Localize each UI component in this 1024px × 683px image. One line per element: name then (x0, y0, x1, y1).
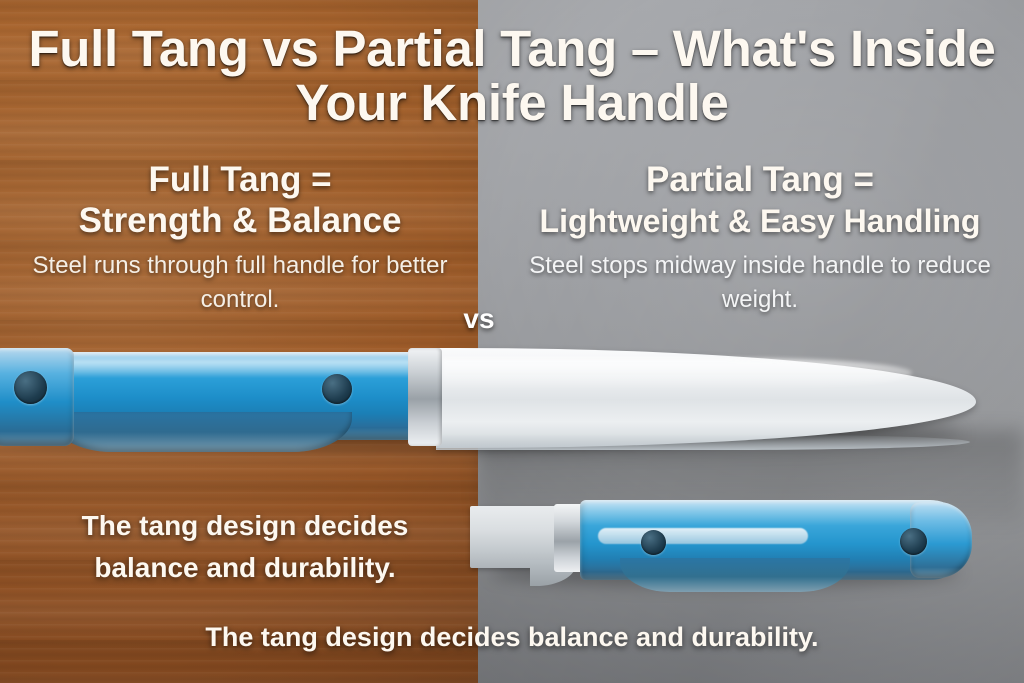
full-tang-blade (436, 348, 976, 448)
column-partial-tang: Partial Tang = Lightweight & Easy Handli… (500, 160, 1020, 317)
partial-tang-heading-line-1: Partial Tang = (500, 160, 1020, 200)
full-tang-knife-illustration (0, 340, 992, 475)
partial-tang-rivet-rear (900, 528, 927, 555)
page-title: Full Tang vs Partial Tang – What's Insid… (0, 22, 1024, 130)
full-tang-rivet-rear (14, 371, 47, 404)
partial-tang-internal-steel (598, 528, 808, 544)
full-tang-handle-belly (52, 412, 352, 452)
partial-tang-knife-illustration (470, 498, 980, 608)
page-title-line-1: Full Tang vs Partial Tang – What's Insid… (10, 22, 1014, 76)
full-tang-heading-line-2: Strength & Balance (5, 200, 475, 242)
partial-tang-rivet-front (641, 530, 666, 555)
partial-tang-heading-line-2: Lightweight & Easy Handling (500, 200, 1020, 242)
versus-divider-label: vs (448, 303, 510, 335)
partial-tang-blade (470, 506, 566, 568)
column-full-tang: Full Tang = Strength & Balance Steel run… (5, 160, 475, 317)
full-tang-note: The tang design decides balance and dura… (35, 505, 455, 589)
partial-tang-description: Steel stops midway inside handle to redu… (500, 249, 1020, 317)
full-tang-blade-edge (436, 434, 970, 450)
infographic-canvas: Full Tang vs Partial Tang – What's Insid… (0, 0, 1024, 683)
page-title-line-2: Your Knife Handle (10, 76, 1014, 130)
full-tang-heading-line-1: Full Tang = (5, 160, 475, 200)
full-tang-rivet-front (322, 374, 352, 404)
full-tang-description: Steel runs through full handle for bette… (5, 249, 475, 317)
full-tang-blade-highlight (442, 358, 912, 388)
full-tang-bolster (408, 348, 442, 446)
footer-caption: The tang design decides balance and dura… (0, 618, 1024, 656)
partial-tang-handle-belly (620, 558, 850, 592)
